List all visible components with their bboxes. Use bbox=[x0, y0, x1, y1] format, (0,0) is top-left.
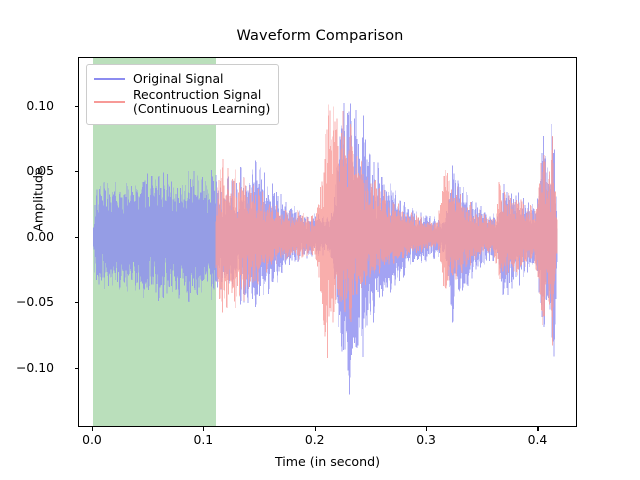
y-tick-mark bbox=[75, 368, 79, 369]
page-title: Waveform Comparison bbox=[0, 28, 640, 44]
x-tick-label: 0.0 bbox=[82, 432, 102, 447]
x-tick-label: 0.2 bbox=[305, 432, 325, 447]
x-tick-mark bbox=[92, 427, 93, 431]
x-tick-mark bbox=[203, 427, 204, 431]
y-tick-label: 0.10 bbox=[26, 98, 54, 113]
x-axis-label: Time (in second) bbox=[78, 454, 577, 469]
x-tick-mark bbox=[426, 427, 427, 431]
y-tick-mark bbox=[75, 106, 79, 107]
x-tick-label: 0.4 bbox=[528, 432, 548, 447]
y-tick-mark bbox=[75, 237, 79, 238]
legend-line-swatch-original bbox=[94, 72, 125, 86]
x-tick-label: 0.1 bbox=[193, 432, 213, 447]
x-tick-mark bbox=[537, 427, 538, 431]
chart-legend[interactable]: Original Signal Recontruction Signal (Co… bbox=[86, 64, 279, 125]
legend-item-reconstruction: Recontruction Signal (Continuous Learnin… bbox=[94, 88, 270, 117]
legend-label-reconstruction: Recontruction Signal (Continuous Learnin… bbox=[133, 88, 270, 117]
legend-item-original: Original Signal bbox=[94, 72, 270, 87]
x-tick-mark bbox=[315, 427, 316, 431]
y-tick-label: −0.05 bbox=[16, 294, 54, 309]
y-tick-label: −0.10 bbox=[16, 360, 54, 375]
legend-line-swatch-reconstruction bbox=[94, 95, 125, 109]
legend-label-original: Original Signal bbox=[133, 72, 224, 87]
x-tick-label: 0.3 bbox=[416, 432, 436, 447]
y-tick-mark bbox=[75, 302, 79, 303]
series-reconstruction-signal bbox=[215, 105, 557, 358]
y-tick-mark bbox=[75, 171, 79, 172]
matplotlib-figure: Waveform Comparison 0.100.050.00−0.05−0.… bbox=[0, 0, 640, 480]
y-axis-label: Amplitude bbox=[31, 120, 46, 280]
